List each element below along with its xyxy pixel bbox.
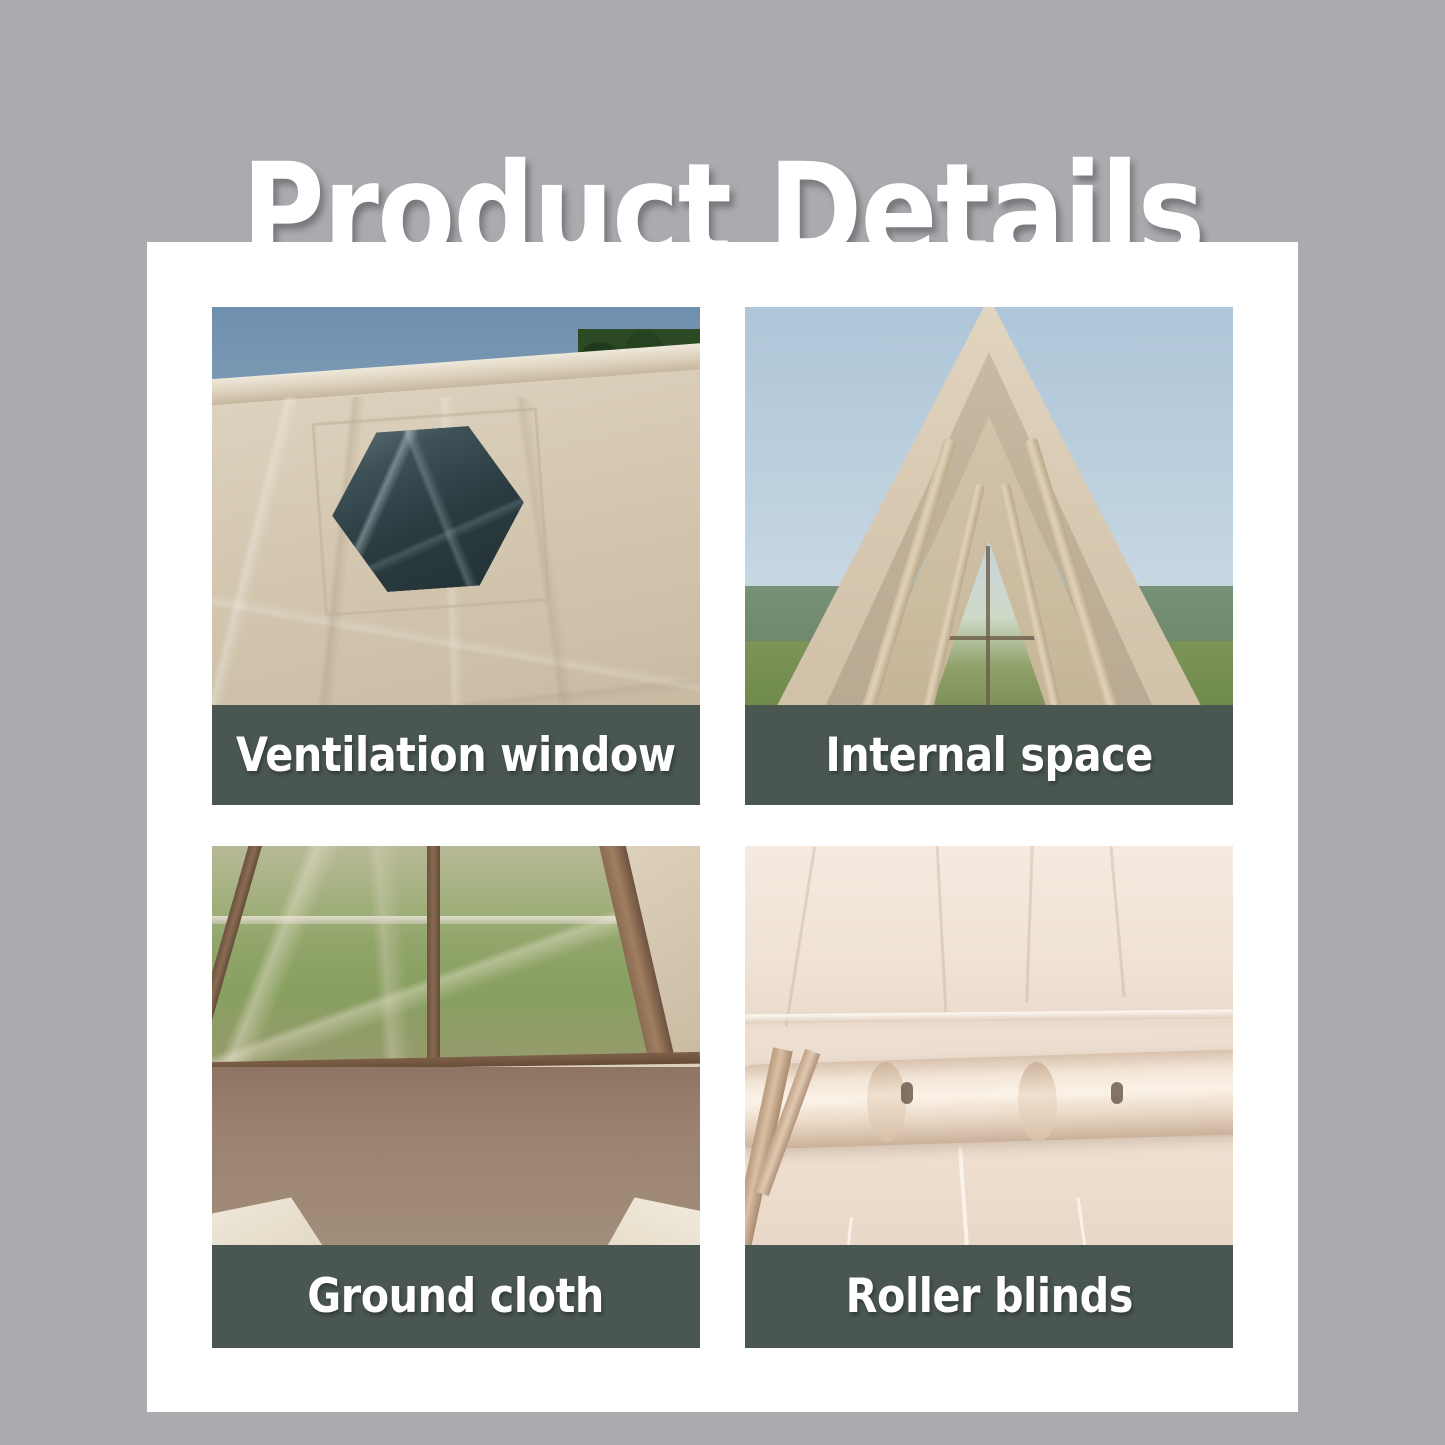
blind-roll-gap: [901, 1082, 913, 1104]
caption-bar-ground-cloth: Ground cloth: [212, 1245, 700, 1348]
details-card: Ventilation window: [147, 242, 1298, 1412]
details-grid: Ventilation window: [212, 307, 1233, 1348]
caption-label: Ground cloth: [308, 1273, 605, 1320]
caption-label: Ventilation window: [236, 732, 676, 779]
upper-canvas-panel: [745, 846, 1233, 1027]
caption-bar-internal-space: Internal space: [745, 705, 1233, 805]
window-mullion-vertical: [986, 546, 990, 710]
rolled-blind-tube: [745, 1049, 1233, 1151]
window-mullion-horizontal: [940, 636, 1038, 640]
caption-bar-roller-blinds: Roller blinds: [745, 1245, 1233, 1348]
detail-tile-roller-blinds[interactable]: Roller blinds: [745, 846, 1233, 1348]
detail-tile-internal-space[interactable]: Internal space: [745, 307, 1233, 805]
frame-bar-vertical: [427, 846, 440, 1072]
product-details-page: Product Details Ventilation window: [0, 0, 1445, 1445]
caption-label: Roller blinds: [845, 1273, 1132, 1320]
caption-bar-ventilation-window: Ventilation window: [212, 705, 700, 805]
blind-roll-gap: [1111, 1082, 1123, 1104]
detail-tile-ventilation-window[interactable]: Ventilation window: [212, 307, 700, 805]
caption-label: Internal space: [825, 732, 1153, 779]
detail-tile-ground-cloth[interactable]: Ground cloth: [212, 846, 700, 1348]
